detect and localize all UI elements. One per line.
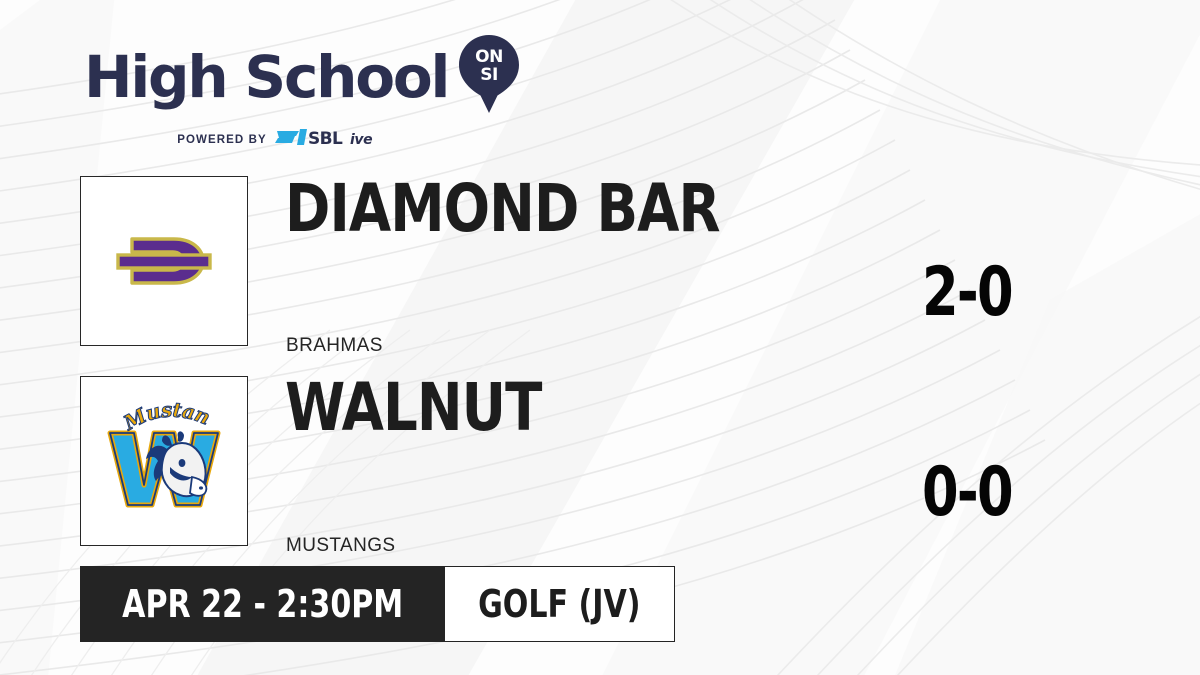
powered-by-row: POWERED BY SBL ive xyxy=(84,126,476,153)
team-mascot-1: MUSTANGS xyxy=(286,535,395,557)
team-mascot-0: BRAHMAS xyxy=(286,335,383,357)
page-title: High School xyxy=(84,48,448,106)
onsi-location-pin-icon: ON SI xyxy=(458,34,520,119)
svg-text:SI: SI xyxy=(480,65,498,85)
datetime-chip: APR 22 - 2:30PM xyxy=(80,566,445,642)
powered-by-label: POWERED BY xyxy=(177,134,267,146)
team-record-0: 2-0 xyxy=(872,259,1061,327)
svg-text:Mustangs: Mustangs xyxy=(100,399,213,435)
svg-text:ON: ON xyxy=(475,47,503,67)
team-name-0: DIAMOND BAR xyxy=(285,176,720,242)
team-record-1: 0-0 xyxy=(872,459,1061,527)
team-logo-box-1: Mustangs xyxy=(80,376,248,546)
svg-text:SBL: SBL xyxy=(308,129,343,148)
wordmark-row: High School ON SI xyxy=(84,34,520,119)
team-name-1: WALNUT xyxy=(285,375,541,441)
svg-text:ive: ive xyxy=(350,132,372,148)
sport-label: GOLF (JV) xyxy=(478,585,640,623)
matchup-graphic: High School ON SI POWERED BY SBL ive xyxy=(0,0,1200,675)
brand-header: High School ON SI POWERED BY SBL ive xyxy=(84,34,520,153)
game-info-bar: APR 22 - 2:30PM GOLF (JV) xyxy=(80,566,675,642)
sport-chip: GOLF (JV) xyxy=(445,566,675,642)
team-logo-box-0 xyxy=(80,176,248,346)
game-datetime: APR 22 - 2:30PM xyxy=(122,585,403,623)
walnut-mustangs-logo: Mustangs xyxy=(100,399,228,523)
diamond-bar-brahmas-logo xyxy=(104,201,224,321)
sblive-s-mark-icon: SBL ive xyxy=(275,126,383,153)
